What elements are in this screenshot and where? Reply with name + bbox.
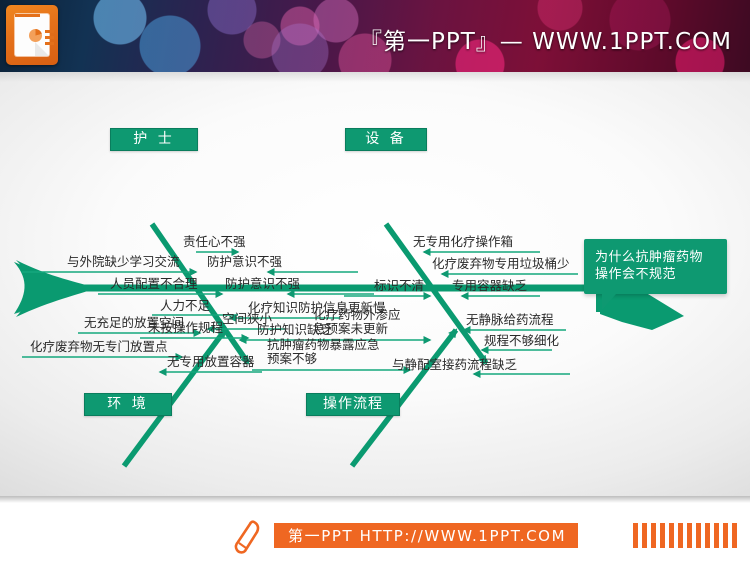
- powerpoint-icon: [6, 5, 58, 65]
- cause-process-1: 化疗药物外渗应 急预案未更新: [313, 308, 401, 336]
- powerpoint-icon-bar: [15, 14, 40, 17]
- powerpoint-icon-bar: [45, 30, 54, 33]
- effect-callout-text: 为什么抗肿瘤药物 操作会不规范: [595, 249, 703, 283]
- cause-process-1-line2: 急预案未更新: [313, 321, 388, 336]
- footer-bar: 第一PPT HTTP://WWW.1PPT.COM: [0, 496, 750, 562]
- cause-environment-4: 空间狭小: [222, 312, 272, 326]
- cause-nurse-7: 防护意识不强: [225, 277, 300, 291]
- cause-process-1-line1: 化疗药物外渗应: [313, 307, 401, 322]
- fishbone-diagram: 护 士 设 备 环 境 操作流程 责任心不强 与外院缺少学习交流 人员配置不合理…: [0, 72, 750, 496]
- cause-equipment-3: 标识不清: [374, 279, 424, 293]
- top-banner: 『第一PPT』— WWW.1PPT.COM: [0, 0, 750, 72]
- footer-url-strip: 第一PPT HTTP://WWW.1PPT.COM: [274, 523, 578, 548]
- cause-nurse-4: 人力不足: [160, 299, 210, 313]
- cause-environment-2: 化疗废弃物无专门放置点: [30, 340, 168, 354]
- powerpoint-icon-bar: [45, 36, 54, 39]
- slide-body: 护 士 设 备 环 境 操作流程 责任心不强 与外院缺少学习交流 人员配置不合理…: [0, 72, 750, 496]
- cause-nurse-3: 人员配置不合理: [110, 277, 198, 291]
- effect-line-2: 操作会不规范: [595, 267, 676, 282]
- cause-nurse-1: 责任心不强: [183, 235, 246, 249]
- powerpoint-icon-doc: [15, 14, 49, 56]
- category-label-process[interactable]: 操作流程: [306, 393, 400, 416]
- cause-process-3: 无静脉给药流程: [466, 313, 554, 327]
- slide: 『第一PPT』— WWW.1PPT.COM: [0, 0, 750, 562]
- cause-process-2-line2: 预案不够: [267, 351, 317, 366]
- effect-line-1: 为什么抗肿瘤药物: [595, 250, 703, 265]
- cause-equipment-2: 化疗废弃物专用垃圾桶少: [432, 257, 570, 271]
- banner-title: 『第一PPT』— WWW.1PPT.COM: [359, 22, 732, 56]
- cause-nurse-2: 与外院缺少学习交流: [67, 255, 180, 269]
- effect-callout[interactable]: 为什么抗肿瘤药物 操作会不规范: [584, 239, 727, 294]
- cause-process-2: 抗肿瘤药物暴露应急 预案不够: [267, 338, 380, 366]
- cause-environment-1: 无充足的放置空间: [84, 316, 184, 330]
- cause-equipment-1: 无专用化疗操作箱: [413, 235, 513, 249]
- pencil-icon: [234, 520, 262, 554]
- cause-process-2-line1: 抗肿瘤药物暴露应急: [267, 337, 380, 352]
- cause-nurse-6: 防护意识不强: [207, 255, 282, 269]
- powerpoint-icon-pie: [29, 29, 42, 42]
- category-label-environment[interactable]: 环 境: [84, 393, 172, 416]
- cause-process-4: 规程不够细化: [484, 334, 559, 348]
- cause-environment-3: 无专用放置容器: [167, 355, 255, 369]
- powerpoint-icon-bar: [45, 42, 54, 45]
- cause-equipment-4: 专用容器缺乏: [452, 279, 527, 293]
- footer-bars: [633, 523, 737, 548]
- cause-process-5: 与静配室接药流程缺乏: [392, 358, 517, 372]
- category-label-equipment[interactable]: 设 备: [345, 128, 427, 151]
- category-label-nurse[interactable]: 护 士: [110, 128, 198, 151]
